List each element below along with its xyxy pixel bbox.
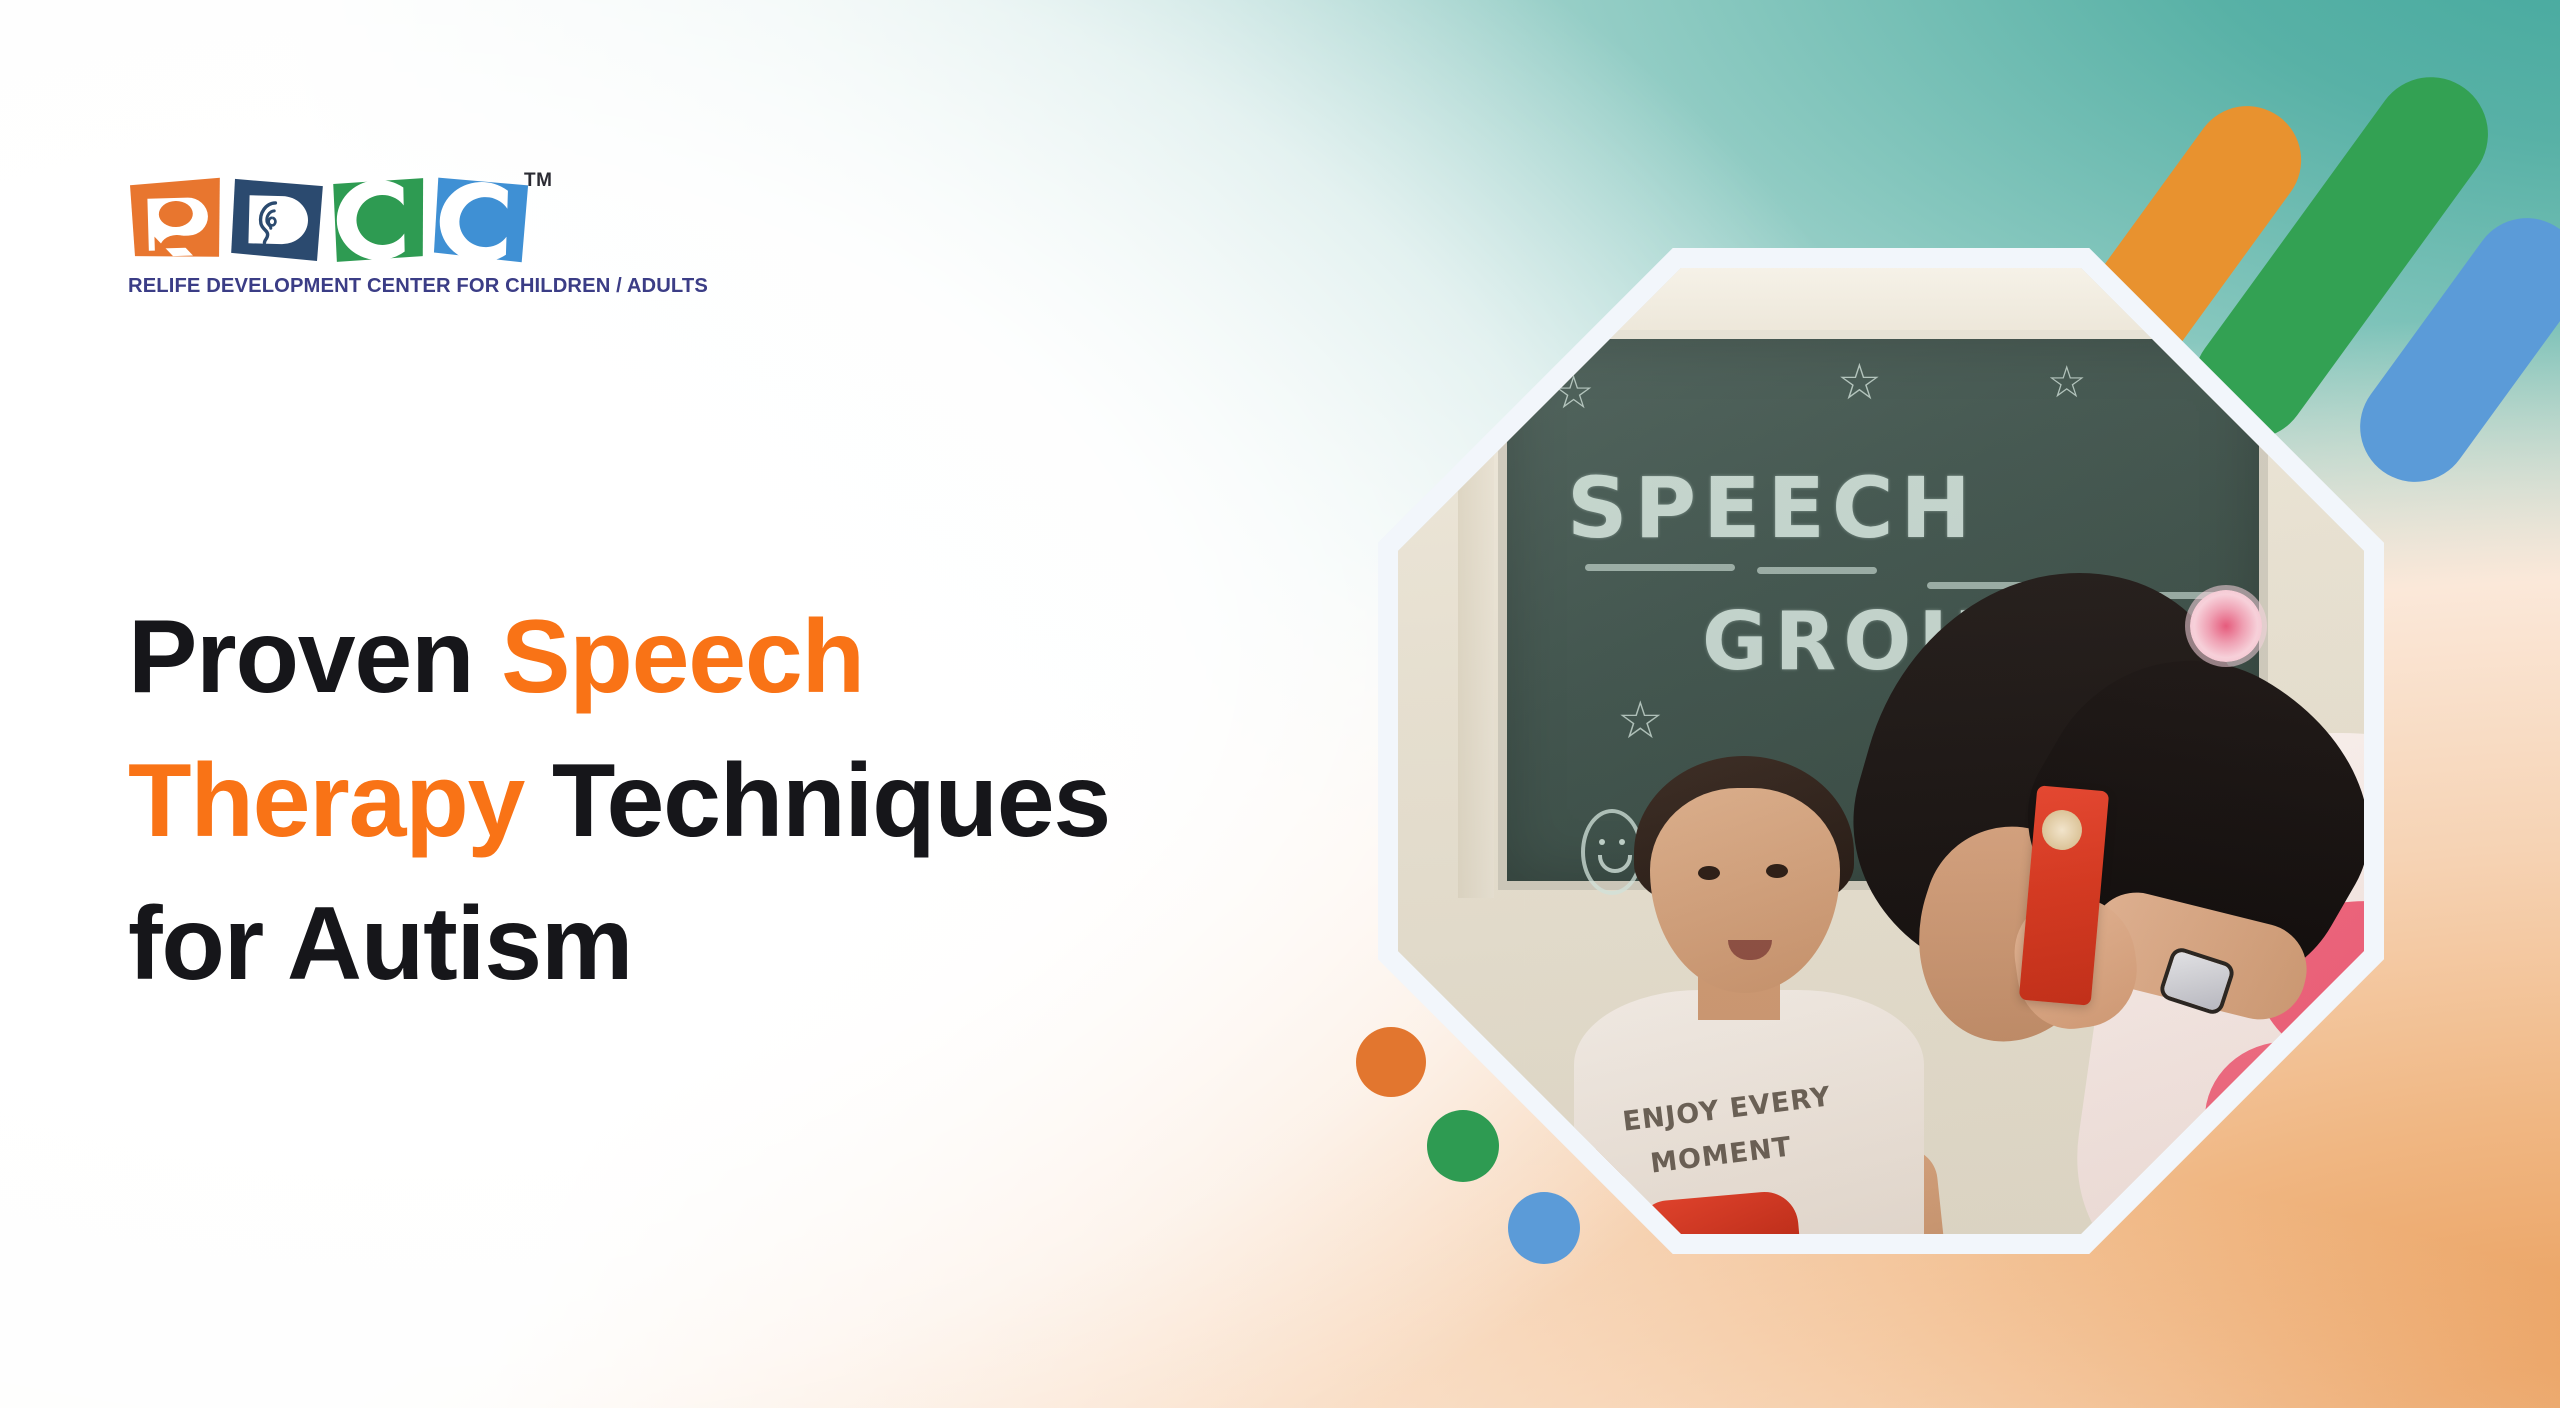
chalk-star-icon: ☆ [2047,361,2086,405]
chalk-underline [1585,564,1735,571]
logo-tagline: RELIFE DEVELOPMENT CENTER FOR CHILDREN /… [128,274,708,298]
letter-c-green-icon [331,177,429,263]
trademark-symbol: TM [524,170,552,192]
logo-tile-r [127,177,225,264]
letter-c-blue-icon [433,177,532,264]
hero-photo: ☆ ☆ ☆ ☆ SPEECH GROUP [1398,268,2364,1234]
page-title: Proven Speech Therapy Techniques for Aut… [128,586,1368,1017]
headline-line-3: for Autism [128,873,1368,1017]
chalk-star-icon: ☆ [1553,369,1594,415]
chalkboard-text-line1: SPEECH [1567,459,1978,557]
dot-blue-icon [1508,1192,1580,1264]
headline-text-accent: Therapy [128,743,524,859]
headline-line-1: Proven Speech [128,586,1368,730]
chalk-star-icon: ☆ [1617,695,1664,747]
logo-tile-d [229,177,327,263]
person-icon [127,177,225,264]
ear-icon [229,177,327,263]
logo-tiles: TM [128,178,548,266]
rdcc-logo[interactable]: TM RELIFE DEVELOPMENT CENTER FOR CHILDRE… [128,178,568,303]
hero-photo-frame: ☆ ☆ ☆ ☆ SPEECH GROUP [1378,248,2384,1254]
dot-green-icon [1427,1110,1499,1182]
headline-line-2: Therapy Techniques [128,730,1368,874]
logo-tile-c-blue [433,177,532,264]
child-eye-left [1698,866,1720,880]
headline-text-plain: Proven [128,599,501,715]
logo-tile-c-green [331,177,429,263]
chalk-underline [1757,567,1877,574]
promo-banner: ☆ ☆ ☆ ☆ SPEECH GROUP [0,0,2560,1408]
chalk-star-icon: ☆ [1837,357,1882,407]
hair-flower-icon [2190,590,2262,662]
headline-text-accent: Speech [501,599,864,715]
dot-orange-icon [1356,1027,1426,1097]
headline-text-plain: for Autism [128,886,632,1002]
headline-text-plain: Techniques [524,743,1110,859]
child-eye-right [1766,864,1788,878]
